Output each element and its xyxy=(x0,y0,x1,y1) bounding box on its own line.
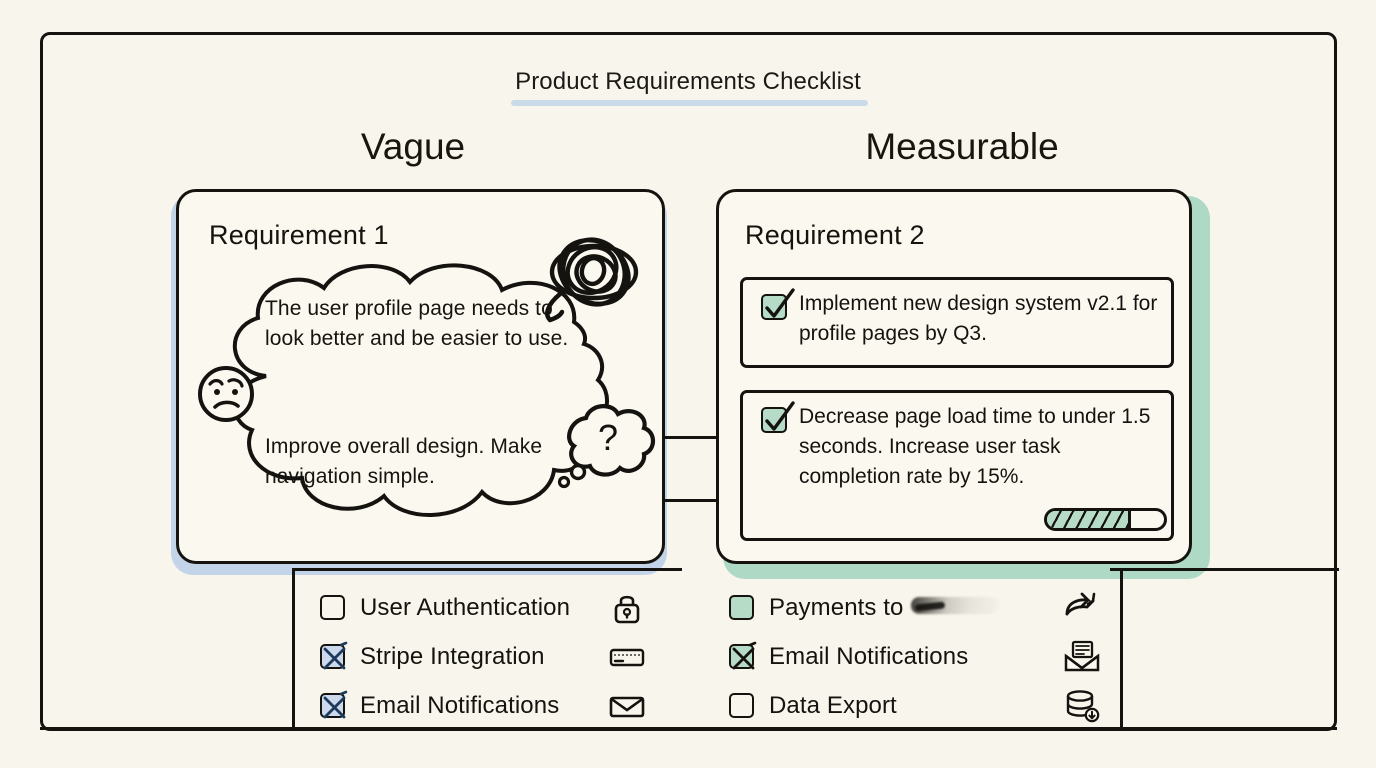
column-header-measurable: Measurable xyxy=(790,126,1134,168)
checkbox-email-notifications-left[interactable] xyxy=(320,693,345,718)
whiteboard-canvas: Product Requirements Checklist Vague Mea… xyxy=(0,0,1376,768)
list-item-label: Stripe Integration xyxy=(360,643,545,671)
list-item-label: Email Notifications xyxy=(769,643,968,671)
measurable-item-1-checkbox[interactable] xyxy=(761,294,787,320)
envelope-icon xyxy=(608,687,646,725)
list-item-label: Payments to xyxy=(769,594,904,622)
list-item-label: Email Notifications xyxy=(360,692,559,720)
band-divider-top-right xyxy=(1110,568,1339,571)
question-thought-bubble-icon: ? xyxy=(556,398,660,490)
list-item-label: User Authentication xyxy=(360,594,570,622)
credit-card-icon xyxy=(608,638,646,676)
list-item-label: Data Export xyxy=(769,692,897,720)
checkbox-email-notifications-right[interactable] xyxy=(729,644,754,669)
progress-bar-fill xyxy=(1047,511,1131,528)
worried-face-icon xyxy=(196,364,256,424)
measurable-item-2-text: Decrease page load time to under 1.5 sec… xyxy=(799,402,1161,492)
list-item[interactable]: Data Export xyxy=(729,681,1069,730)
band-divider-bottom xyxy=(40,727,1337,730)
measurable-item-1[interactable]: Implement new design system v2.1 for pro… xyxy=(740,277,1174,368)
page-title-text: Product Requirements Checklist xyxy=(509,68,867,98)
title-underline xyxy=(511,100,868,106)
card-title-requirement-2: Requirement 2 xyxy=(745,220,925,251)
list-item[interactable]: Payments to xyxy=(729,583,1069,632)
measurable-item-2[interactable]: Decrease page load time to under 1.5 sec… xyxy=(740,390,1174,541)
list-item[interactable]: Email Notifications xyxy=(729,632,1069,681)
vague-statement-2: Improve overall design. Make navigation … xyxy=(265,432,585,492)
band-divider-vertical-right xyxy=(1120,568,1123,730)
share-arrow-icon xyxy=(1063,589,1101,627)
lock-icon xyxy=(608,589,646,627)
checklist-right: Payments to Email Notifications xyxy=(729,583,1069,730)
measurable-item-1-text: Implement new design system v2.1 for pro… xyxy=(799,289,1161,349)
checkbox-user-authentication[interactable] xyxy=(320,595,345,620)
column-header-vague: Vague xyxy=(248,126,578,168)
open-envelope-icon xyxy=(1063,638,1101,676)
page-title: Product Requirements Checklist xyxy=(0,68,1376,98)
checkbox-payments[interactable] xyxy=(729,595,754,620)
list-item[interactable]: User Authentication xyxy=(320,583,670,632)
card-title-requirement-1: Requirement 1 xyxy=(209,220,389,251)
connector-line-upper xyxy=(663,436,719,439)
erased-text-smudge xyxy=(911,597,999,614)
svg-text:?: ? xyxy=(598,417,618,458)
progress-bar xyxy=(1044,508,1167,531)
database-download-icon xyxy=(1063,687,1101,725)
band-divider-vertical-left xyxy=(292,568,295,730)
connector-line-lower xyxy=(663,499,719,502)
band-divider-top-left xyxy=(292,568,682,571)
scribble-icon xyxy=(532,228,656,340)
list-item[interactable]: Stripe Integration xyxy=(320,632,670,681)
measurable-item-2-checkbox[interactable] xyxy=(761,407,787,433)
list-item[interactable]: Email Notifications xyxy=(320,681,670,730)
vague-statement-1: The user profile page needs to look bett… xyxy=(265,294,575,354)
checkbox-data-export[interactable] xyxy=(729,693,754,718)
checklist-left: User Authentication Stripe Integration xyxy=(320,583,670,730)
checkbox-stripe-integration[interactable] xyxy=(320,644,345,669)
